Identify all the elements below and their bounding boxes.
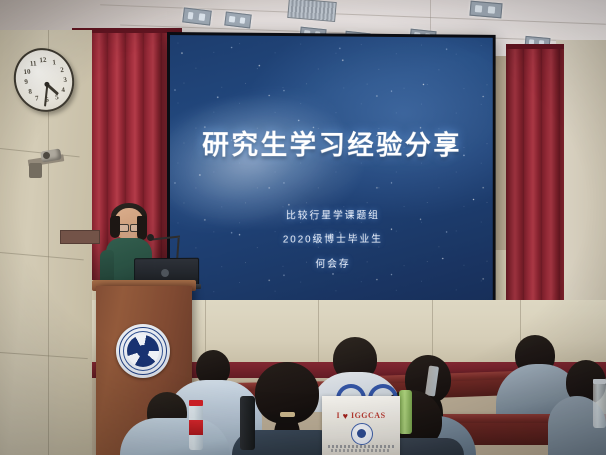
clock-numeral: 3 (60, 76, 71, 84)
clock-numeral: 8 (25, 87, 36, 95)
projection-screen: 研究生学习经验分享 比较行星学课题组 2020级博士毕业生 何会存 (167, 32, 496, 315)
emblem-spiral (127, 335, 159, 367)
curtain-rail (506, 44, 564, 49)
ceiling-light (224, 11, 252, 28)
torso (120, 418, 230, 455)
microphone-icon (147, 234, 154, 241)
dark-bottle (240, 396, 255, 450)
clock-face: 12 1 2 3 4 5 6 7 8 9 10 11 (16, 52, 72, 108)
bottle-cap (593, 379, 606, 384)
clock-numeral: 2 (57, 66, 68, 74)
university-emblem-icon (116, 324, 170, 378)
tote-bag: I ♥ IGGCAS (322, 396, 400, 455)
clock-numeral: 9 (21, 78, 32, 86)
wall-vent-slot (60, 230, 100, 244)
heart-icon: ♥ (343, 411, 349, 421)
ceiling-light (182, 7, 212, 25)
tote-org-text: IGGCAS (351, 411, 386, 420)
hair-tie (280, 412, 295, 417)
cola-label (189, 420, 203, 435)
tote-i-text: I (336, 411, 340, 420)
clock-numeral: 10 (22, 68, 33, 76)
slide-subtitle-cohort: 2020级博士毕业生 (170, 230, 493, 246)
slide-subtitle-group: 比较行星学课题组 (170, 206, 493, 222)
slide-background: 研究生学习经验分享 比较行星学课题组 2020级博士毕业生 何会存 (170, 35, 493, 312)
clock-center-pin (44, 81, 50, 86)
iggcas-logo-icon (351, 423, 373, 445)
lecture-hall-photo: 12 1 2 3 4 5 6 7 8 9 10 11 研究生学习经验分享 比较行… (0, 0, 606, 455)
tote-slogan: I ♥ IGGCAS (322, 411, 400, 421)
slide-subtitle-name: 何会存 (170, 254, 493, 271)
ceiling-light (469, 1, 502, 19)
clock-numeral: 11 (28, 59, 39, 67)
presenter-hair (110, 216, 120, 238)
panel-seam (432, 300, 433, 362)
tote-footer-text (328, 445, 394, 448)
green-tea-bottle (399, 390, 412, 434)
presenter-hair (137, 216, 147, 240)
tote-footer-text (331, 449, 391, 452)
panel-seam (318, 300, 319, 362)
slide-title: 研究生学习经验分享 (170, 123, 493, 162)
clock-numeral: 12 (37, 56, 48, 64)
camera-mount (29, 163, 42, 178)
bottle-cap (189, 400, 203, 406)
laptop-logo-icon (161, 269, 169, 277)
water-bottle (593, 382, 606, 428)
